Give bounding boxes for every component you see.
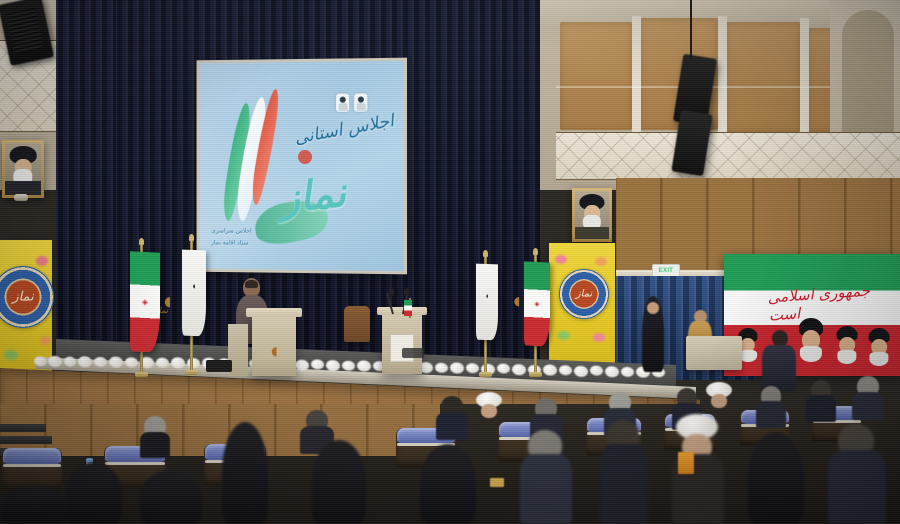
stage-curtain-left: [56, 0, 116, 372]
attendee-seated: [436, 396, 468, 438]
desk-iran-flag: [404, 300, 412, 316]
program-booklet: [678, 452, 694, 474]
main-podium: ◖: [252, 314, 296, 376]
auditorium-seat: [2, 448, 62, 490]
portrait-khamenei-image: [575, 191, 609, 239]
banner-floral-motif: [595, 257, 607, 266]
flag-banner-portrait: [866, 328, 892, 366]
second-podium: [382, 312, 422, 374]
attendee-standing-left: [640, 296, 666, 372]
speaker-rigging: [690, 0, 692, 60]
attendee-seated: [852, 376, 884, 418]
portrait-frame-khamenei: [572, 188, 612, 242]
organization-flag-right: ◖: [476, 264, 498, 341]
stage-chair: [344, 306, 370, 342]
stage-equipment-box: [402, 348, 424, 358]
banner-floral-motif: [36, 256, 48, 266]
attendee-turban: [706, 382, 732, 408]
flag-base-icon: [479, 372, 492, 377]
aisle-step: [0, 424, 46, 432]
organization-flag-left: ◖: [182, 250, 206, 337]
attendee-seated: [140, 416, 170, 456]
banner-floral-motif: [593, 333, 605, 342]
attendee-foreground-chador: [420, 444, 476, 524]
screen-leader-portrait-icon: [336, 94, 349, 112]
screen-caption-line-1: اجلاس سراسری: [211, 227, 251, 234]
attendee-foreground-seated: [520, 430, 572, 524]
attendee-foreground-chador: [222, 422, 268, 524]
attendee-seated: [756, 386, 786, 426]
attendee-foreground-seated: [600, 420, 648, 524]
flag-finial-icon: [483, 250, 488, 257]
flag-banner-portrait: [796, 318, 826, 362]
flag-banner-calligraphy: جمهوری اسلامی است: [767, 279, 900, 324]
screen-leader-portrait-icon: [354, 93, 367, 111]
flag-finial-icon: [189, 234, 194, 241]
attendee-seated: [806, 380, 836, 420]
attendee-walking: [762, 330, 796, 392]
flag-banner-portrait: [834, 326, 860, 364]
iran-flag-banner: جمهوری اسلامی است: [724, 254, 900, 376]
attendee-foreground-chador: [140, 470, 202, 524]
attendee-foreground-seated: [828, 424, 886, 524]
banner-medallion-right: نماز: [559, 269, 609, 319]
geometric-frieze: [556, 132, 900, 180]
projection-screen: اجلاس استانی نماز اجلاس سراسری ستاد اقام…: [199, 61, 404, 272]
attendee-turban: [476, 392, 502, 418]
flag-group-right: ◖ ◈: [470, 248, 560, 378]
banner-medallion-left: نماز: [0, 266, 54, 328]
microphone-head-icon: [389, 288, 394, 296]
wall-panel: [560, 22, 632, 130]
picture-lamp-icon: [14, 194, 28, 201]
stage-monitor-box: [206, 360, 232, 372]
flag-finial-icon: [139, 238, 144, 245]
screen-artwork-dot: [298, 150, 312, 164]
conference-hall-photo: ◖ نماز ◖ اجلاس استانی نماز اجلاس سراسری …: [0, 0, 900, 524]
flag-base-icon: [185, 370, 198, 375]
side-lectern: [686, 336, 742, 370]
portrait-khomeini-image: [5, 143, 41, 195]
panel-divider: [800, 18, 809, 136]
flag-group-left: ◈ ◖: [120, 236, 220, 380]
flag-base-icon: [135, 372, 148, 377]
iran-flag-right: ◈: [524, 261, 550, 346]
program-booklet: [490, 478, 504, 487]
panel-divider: [718, 16, 727, 134]
podium-top-surface: [246, 308, 302, 317]
attendee-foreground-blur: [0, 486, 70, 524]
iran-flag-left: ◈: [130, 251, 160, 353]
exit-sign-label: EXIT: [659, 268, 674, 274]
aisle-step: [0, 436, 52, 444]
flag-finial-icon: [533, 248, 538, 255]
attendee-foreground-chador: [66, 462, 122, 524]
banner-floral-motif: [4, 350, 18, 360]
wall-panel: [726, 22, 800, 132]
attendee-foreground-chador: [312, 440, 366, 524]
screen-calligraphy-main: نماز: [278, 169, 348, 222]
portrait-frame-khomeini: [2, 140, 44, 198]
attendee-foreground-chador: [748, 432, 804, 524]
podium-spiral-logo-icon: ◖: [267, 340, 280, 362]
speaker-hair: [245, 280, 258, 288]
flag-base-icon: [529, 372, 542, 377]
microphone-head-icon: [404, 288, 409, 296]
panel-divider: [632, 16, 641, 134]
